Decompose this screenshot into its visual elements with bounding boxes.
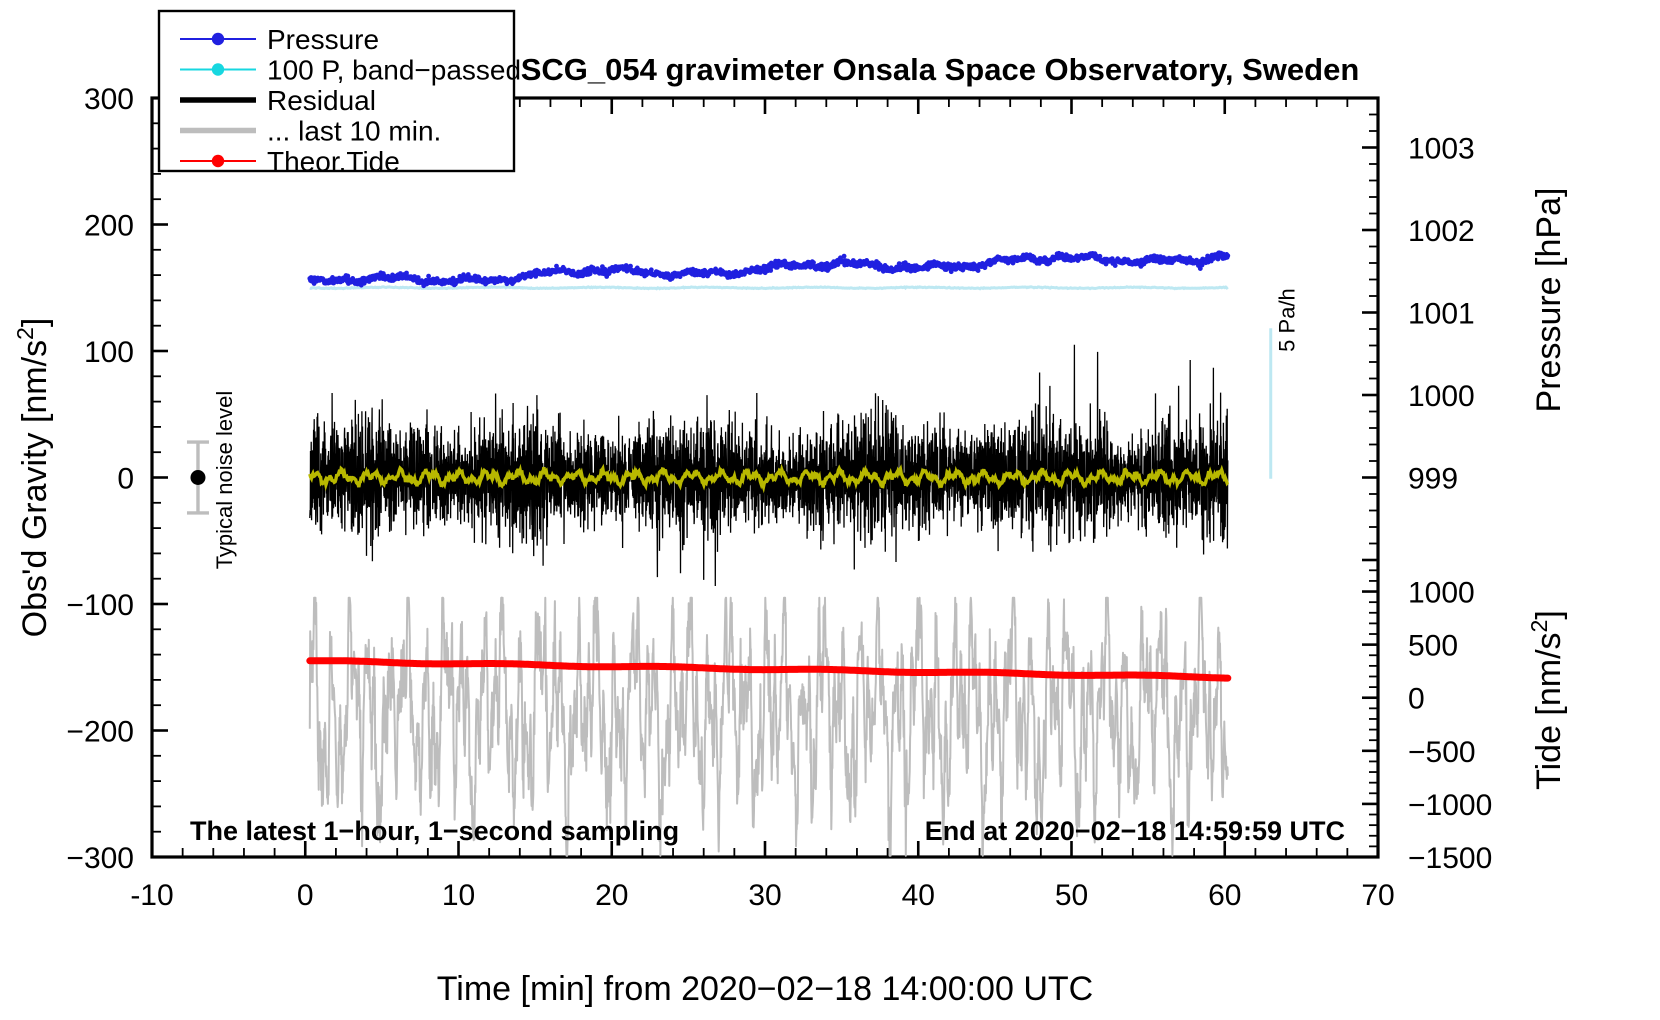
y-right-pressure-label: 1001	[1408, 298, 1475, 331]
y-right-tide-label: 500	[1408, 630, 1458, 663]
y-right-tide-label: −1000	[1408, 789, 1492, 822]
footer-right-note: End at 2020−02−18 14:59:59 UTC	[925, 816, 1345, 846]
y-tick-label: −300	[66, 842, 134, 875]
legend-label: Pressure	[267, 24, 379, 55]
y-tick-label: −100	[66, 589, 134, 622]
legend-label: ... last 10 min.	[267, 116, 441, 147]
y-tick-label: 200	[84, 210, 134, 243]
legend-swatch-dot	[212, 33, 224, 45]
y-right-tide-label: 0	[1408, 683, 1425, 716]
legend-label: Residual	[267, 85, 376, 116]
x-tick-label: 40	[902, 879, 935, 912]
y-right-pressure-label: 999	[1408, 463, 1458, 496]
y-tick-label: −200	[66, 716, 134, 749]
y-tick-label: 300	[84, 83, 134, 116]
x-tick-label: 70	[1361, 879, 1394, 912]
y-right-pressure-label: 1002	[1408, 215, 1475, 248]
noise-level-dot	[190, 470, 205, 485]
legend-label: 100 P, band−passed	[267, 55, 521, 86]
series-residual	[310, 345, 1228, 586]
x-tick-label: 0	[297, 879, 314, 912]
gravimeter-chart: -10010203040506070Time [min] from 2020−0…	[0, 0, 1660, 1020]
y-right-pressure-label: 1003	[1408, 133, 1475, 166]
legend-label: Theor.Tide	[267, 146, 400, 177]
legend-swatch-dot	[212, 155, 224, 167]
y-left-axis-title: Obs'd Gravity [nm/s2]	[12, 318, 54, 638]
x-tick-label: 30	[748, 879, 781, 912]
y-tick-label: 0	[117, 463, 134, 496]
series-pressure	[307, 250, 1230, 288]
y-right-tide-label: −1500	[1408, 842, 1492, 875]
x-tick-label: 20	[595, 879, 628, 912]
pressure-scale-label: 5 Pa/h	[1275, 288, 1300, 352]
chart-canvas: -10010203040506070Time [min] from 2020−0…	[0, 0, 1660, 1020]
y-tick-label: 100	[84, 336, 134, 369]
x-tick-label: 10	[442, 879, 475, 912]
y-right-tide-title: Tide [nm/s2]	[1526, 610, 1568, 790]
x-axis-title: Time [min] from 2020−02−18 14:00:00 UTC	[437, 970, 1093, 1008]
x-tick-label: -10	[130, 879, 173, 912]
y-right-tide-label: 1000	[1408, 577, 1475, 610]
noise-level-label: Typical noise level	[212, 391, 237, 570]
x-tick-label: 50	[1055, 879, 1088, 912]
page-title: SCG_054 gravimeter Onsala Space Observat…	[521, 52, 1360, 87]
y-right-tide-label: −500	[1408, 736, 1476, 769]
y-right-pressure-label: 1000	[1408, 380, 1475, 413]
y-right-pressure-title: Pressure [hPa]	[1530, 188, 1568, 413]
legend-swatch-dot	[212, 63, 224, 75]
series-band-passed	[310, 287, 1228, 289]
footer-left-note: The latest 1−hour, 1−second sampling	[190, 816, 679, 846]
x-tick-label: 60	[1208, 879, 1241, 912]
